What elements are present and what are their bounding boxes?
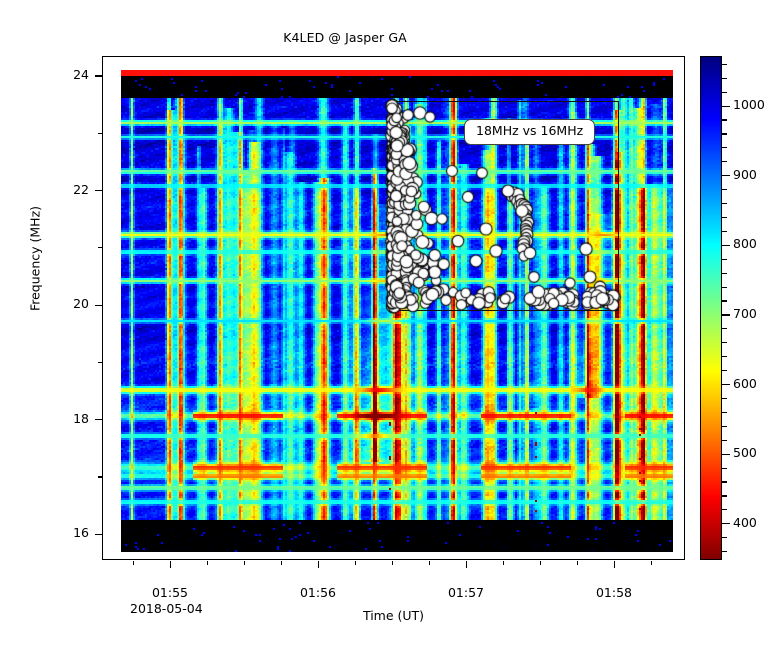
colorbar-tick-minor [722,259,727,260]
y-tick-major [95,190,102,191]
colorbar-tick-minor [722,509,727,510]
x-tick-minor [133,561,134,565]
colorbar-tick-minor [722,300,727,301]
colorbar-tick-minor [722,287,727,288]
colorbar-tick-minor [722,537,727,538]
colorbar-tick-minor [722,78,727,79]
y-tick-major [95,75,102,76]
colorbar-tick-minor [722,398,727,399]
x-tick-label: 01:58 [574,585,654,600]
colorbar-tick-minor [722,551,727,552]
colorbar-tick-minor [722,147,727,148]
y-tick-major [95,534,102,535]
y-tick-minor [98,133,102,134]
colorbar-tick-minor [722,273,727,274]
colorbar-tick-minor [722,64,727,65]
x-tick-minor [207,561,208,565]
y-tick-label: 16 [35,525,89,540]
x-tick-minor [355,561,356,565]
x-tick-minor [577,561,578,565]
y-tick-label: 18 [35,411,89,426]
y-axis-label: Frequency (MHz) [28,49,43,469]
y-tick-minor [98,476,102,477]
colorbar-tick-major [722,245,730,246]
x-tick-label: 01:55 [130,585,210,600]
annotation-label: 18MHz vs 16MHz [464,119,595,145]
x-tick-major [318,561,319,568]
colorbar-tick-label: 800 [733,236,757,251]
colorbar-tick-minor [722,189,727,190]
colorbar-tick-minor [722,92,727,93]
colorbar-tick-major [722,454,730,455]
colorbar-tick-minor [722,440,727,441]
colorbar-tick-major [722,523,730,524]
x-tick-minor [651,561,652,565]
spectrogram-axes[interactable]: 18MHz vs 16MHz [102,56,685,560]
x-tick-major [466,561,467,568]
colorbar-tick-label: 600 [733,376,757,391]
x-tick-minor [281,561,282,565]
colorbar-tick-minor [722,203,727,204]
colorbar-tick-label: 700 [733,306,757,321]
colorbar-tick-label: 500 [733,445,757,460]
x-tick-minor [540,561,541,565]
colorbar-tick-minor [722,412,727,413]
colorbar-tick-minor [722,370,727,371]
colorbar-tick-label: 400 [733,515,757,530]
colorbar-tick-minor [722,468,727,469]
figure-canvas: K4LED @ Jasper GA Frequency (MHz) 18MHz … [0,0,783,656]
colorbar-tick-minor [722,217,727,218]
colorbar-tick-minor [722,426,727,427]
x-tick-minor [392,561,393,565]
y-tick-label: 20 [35,296,89,311]
x-tick-label: 01:56 [278,585,358,600]
colorbar-tick-label: 900 [733,167,757,182]
colorbar-tick-major [722,384,730,385]
colorbar-tick-major [722,106,730,107]
colorbar-tick-minor [722,133,727,134]
y-tick-major [95,305,102,306]
x-axis-label: Time (UT) [102,608,685,623]
y-tick-label: 22 [35,182,89,197]
colorbar-tick-label: 1000 [733,97,765,112]
y-tick-minor [98,247,102,248]
x-tick-minor [503,561,504,565]
colorbar-tick-minor [722,342,727,343]
colorbar[interactable] [700,56,722,560]
y-tick-major [95,419,102,420]
colorbar-tick-minor [722,356,727,357]
x-tick-major [170,561,171,568]
colorbar-gradient [701,57,721,559]
colorbar-tick-minor [722,231,727,232]
y-tick-label: 24 [35,67,89,82]
colorbar-tick-minor [722,161,727,162]
colorbar-tick-major [722,175,730,176]
colorbar-tick-major [722,314,730,315]
x-tick-label: 01:57 [426,585,506,600]
colorbar-tick-minor [722,495,727,496]
y-tick-minor [98,362,102,363]
colorbar-tick-minor [722,481,727,482]
page-title: K4LED @ Jasper GA [0,30,690,45]
x-tick-minor [244,561,245,565]
colorbar-tick-minor [722,119,727,120]
x-tick-major [614,561,615,568]
colorbar-tick-minor [722,328,727,329]
x-tick-minor [429,561,430,565]
